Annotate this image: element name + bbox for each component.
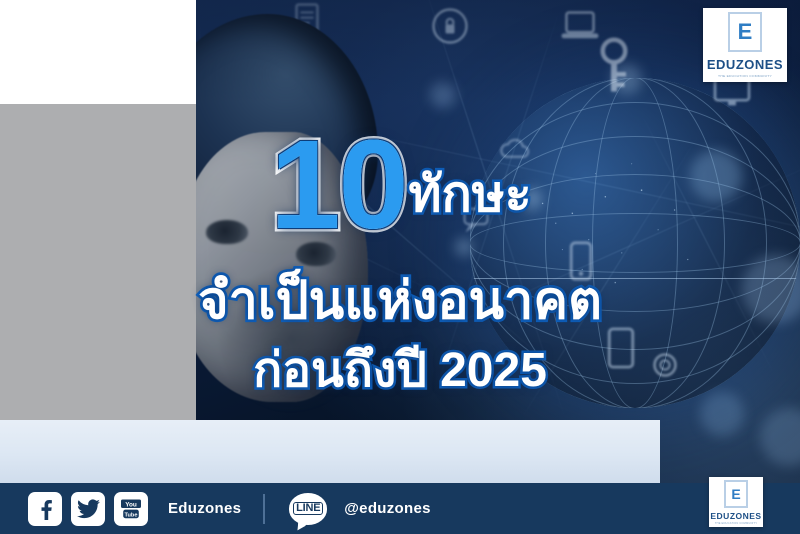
logo-e-box: E bbox=[724, 480, 748, 508]
footer-line-handle: @eduzones bbox=[344, 500, 431, 517]
line-icon[interactable]: LINE bbox=[289, 493, 327, 525]
eduzones-logo-bottom[interactable]: E EDUZONES THE EDUCATION COMMUNITY bbox=[709, 477, 763, 527]
footer-brand-name: Eduzones bbox=[168, 500, 241, 517]
phone-icon bbox=[568, 240, 594, 282]
panel-gray-left bbox=[0, 104, 196, 420]
chat-icon bbox=[462, 206, 490, 232]
svg-text:Tube: Tube bbox=[125, 512, 138, 518]
footer-divider bbox=[263, 494, 265, 524]
panel-white-top-left bbox=[0, 0, 196, 104]
footer-bar: You Tube Eduzones LINE @eduzones bbox=[0, 483, 800, 534]
tablet-icon bbox=[606, 326, 636, 370]
facebook-icon[interactable] bbox=[28, 492, 62, 526]
logo-name: EDUZONES bbox=[710, 511, 761, 521]
logo-e-box: E bbox=[728, 12, 762, 52]
promo-graphic: 10 10 ทักษะ จำเป็นแห่งอนาคต ก่อนถึงปี 20… bbox=[0, 0, 800, 534]
youtube-icon[interactable]: You Tube bbox=[114, 492, 148, 526]
eduzones-logo-top[interactable]: E EDUZONES THE EDUCATION COMMUNITY bbox=[703, 8, 787, 82]
logo-tagline: THE EDUCATION COMMUNITY bbox=[718, 74, 772, 78]
twitter-icon[interactable] bbox=[71, 492, 105, 526]
logo-name: EDUZONES bbox=[707, 57, 783, 72]
logo-e-letter: E bbox=[731, 487, 740, 501]
panel-light-bottom bbox=[0, 420, 660, 484]
logo-tagline: THE EDUCATION COMMUNITY bbox=[715, 522, 757, 525]
logo-e-letter: E bbox=[738, 21, 753, 43]
camera-icon bbox=[648, 348, 682, 382]
line-badge-label: LINE bbox=[293, 502, 323, 515]
cloud-icon bbox=[498, 138, 532, 160]
svg-text:You: You bbox=[125, 501, 137, 508]
